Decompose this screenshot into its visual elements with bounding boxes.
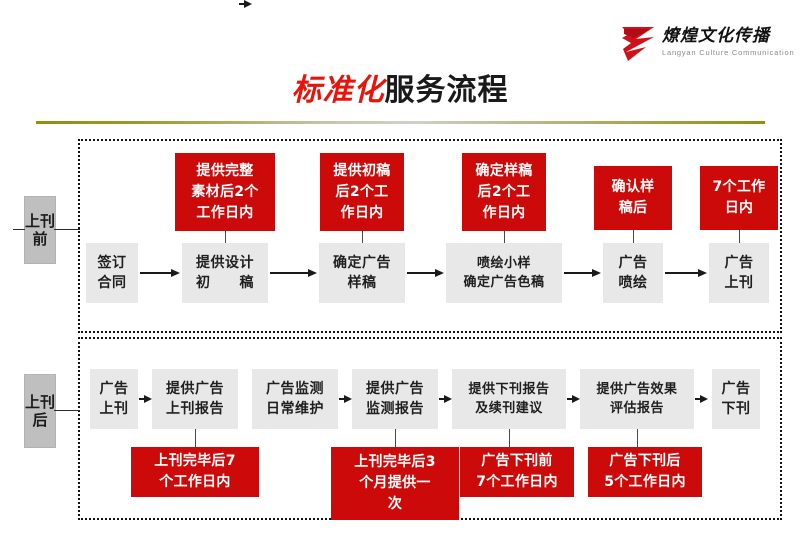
post-stub-4 xyxy=(509,429,510,447)
pre-step-0-line2: 合同 xyxy=(98,275,127,291)
stage-label-pre-publish-text: 上刊前 xyxy=(25,212,55,248)
post-step-5-line1: 提供广告效果 xyxy=(596,382,677,397)
pre-note-1-line1: 提供完整 xyxy=(196,163,253,179)
post-step-0-line2: 上刊 xyxy=(100,401,129,417)
post-step-3-line2: 监测报告 xyxy=(366,401,424,417)
post-step-3-line1: 提供广告 xyxy=(366,381,424,397)
pre-step-2-line1: 确定广告 xyxy=(333,255,391,271)
pre-note-4-line1: 确认样 xyxy=(612,179,655,195)
post-stub-1 xyxy=(195,429,196,447)
post-step-1-line2: 上刊报告 xyxy=(166,401,224,417)
pre-step-2[interactable]: 确定广告样稿 xyxy=(319,243,405,303)
pre-step-5-line2: 上刊 xyxy=(725,275,754,291)
pre-step-1[interactable]: 提供设计初 稿 xyxy=(182,243,268,303)
post-note-1-line1: 上刊完毕后7 xyxy=(154,453,236,469)
pre-arrow-1 xyxy=(270,269,317,277)
logo-wordmark: 燎煌文化传播 Langyan Culture Communication xyxy=(662,27,794,58)
pre-note-2-line1: 提供初稿 xyxy=(333,163,390,179)
pre-step-4[interactable]: 广告喷绘 xyxy=(603,243,663,303)
page-title-highlight: 标准化 xyxy=(292,73,385,108)
pre-step-3-line2: 确定广告色稿 xyxy=(463,275,544,290)
title-divider xyxy=(36,121,765,124)
pre-note-3: 确定样稿后2个工作日内 xyxy=(462,153,546,231)
post-step-4-line1: 提供下刊报告 xyxy=(468,382,549,397)
pre-note-5: 7个工作日内 xyxy=(700,166,778,230)
pre-step-1-line2: 初 稿 xyxy=(196,275,254,291)
post-step-2[interactable]: 广告监测日常维护 xyxy=(252,369,338,429)
pre-step-4-line2: 喷绘 xyxy=(619,275,648,291)
post-stub-5 xyxy=(637,429,638,447)
post-step-3[interactable]: 提供广告监测报告 xyxy=(352,369,438,429)
post-step-4[interactable]: 提供下刊报告及续刊建议 xyxy=(452,369,566,429)
post-note-5: 广告下刊后5个工作日内 xyxy=(588,447,702,497)
post-step-6[interactable]: 广告下刊 xyxy=(712,369,760,429)
post-step-1-line1: 提供广告 xyxy=(166,381,224,397)
post-note-3-line1: 上刊完毕后3 xyxy=(354,454,436,470)
pre-note-1: 提供完整素材后2个工作日内 xyxy=(175,153,275,231)
post-step-2-line2: 日常维护 xyxy=(266,401,324,417)
pre-note-4: 确认样稿后 xyxy=(594,166,672,230)
post-arrow-4 xyxy=(567,395,580,403)
post-step-1[interactable]: 提供广告上刊报告 xyxy=(152,369,238,429)
stage-label-post-publish: 上刊后 xyxy=(24,374,56,448)
pre-stub-5 xyxy=(739,230,740,243)
stage-label-pre-publish: 上刊前 xyxy=(24,196,56,264)
post-note-4: 广告下刊前7个工作日内 xyxy=(460,447,574,497)
pre-arrow-4 xyxy=(665,269,707,277)
pre-stub-1 xyxy=(225,231,226,243)
page-title-rest: 服务流程 xyxy=(385,73,509,108)
stage-connector-post xyxy=(54,410,80,411)
post-note-3-line2: 个月提供一 xyxy=(359,475,431,491)
post-step-4-line2: 及续刊建议 xyxy=(475,401,543,416)
pre-step-0[interactable]: 签订合同 xyxy=(86,243,138,303)
pre-stub-2 xyxy=(362,231,363,243)
pre-step-3-line1: 喷绘小样 xyxy=(477,256,531,271)
pre-note-2-line2: 后2个工 xyxy=(336,184,389,200)
pre-note-5-line1: 7个工作 xyxy=(713,179,766,195)
stage-label-post-publish-text: 上刊后 xyxy=(25,393,55,429)
post-note-5-line1: 广告下刊后 xyxy=(609,453,681,469)
stage-stub-pre xyxy=(13,229,25,230)
post-note-1-line2: 个工作日内 xyxy=(159,474,231,490)
post-note-1: 上刊完毕后7个工作日内 xyxy=(131,447,259,497)
pre-step-1-line1: 提供设计 xyxy=(196,255,254,271)
post-arrow-5 xyxy=(695,395,708,403)
pre-arrow-3 xyxy=(564,269,601,277)
pre-stub-4 xyxy=(633,230,634,243)
post-arrow-3 xyxy=(439,395,452,403)
pre-stub-3 xyxy=(504,231,505,243)
post-arrow-0 xyxy=(139,395,152,403)
pre-step-0-line1: 签订 xyxy=(98,255,127,271)
post-arrow-2 xyxy=(339,395,352,403)
post-step-0-line1: 广告 xyxy=(100,381,129,397)
company-logo: 燎煌文化传播 Langyan Culture Communication xyxy=(620,16,788,68)
pre-note-2: 提供初稿后2个工作日内 xyxy=(320,153,404,231)
logo-name-cn: 燎煌文化传播 xyxy=(662,27,794,46)
pre-note-1-line2: 素材后2个 xyxy=(191,184,258,200)
pre-step-5[interactable]: 广告上刊 xyxy=(709,243,769,303)
post-step-0[interactable]: 广告上刊 xyxy=(90,369,138,429)
post-stub-3 xyxy=(395,429,396,447)
post-step-5[interactable]: 提供广告效果评估报告 xyxy=(580,369,694,429)
pre-arrow-0 xyxy=(140,269,180,277)
post-step-5-line2: 评估报告 xyxy=(610,401,664,416)
post-note-4-line1: 广告下刊前 xyxy=(481,453,553,469)
logo-name-en: Langyan Culture Communication xyxy=(662,48,794,57)
post-note-4-line2: 7个工作日内 xyxy=(476,474,558,490)
pre-step-2-line2: 样稿 xyxy=(348,275,377,291)
post-step-6-line2: 下刊 xyxy=(722,401,751,417)
pre-step-3[interactable]: 喷绘小样确定广告色稿 xyxy=(446,243,562,303)
stage-connector-pre xyxy=(54,229,80,230)
page-title: 标准化服务流程 xyxy=(0,72,800,110)
pre-arrow-2 xyxy=(407,269,444,277)
post-step-2-line1: 广告监测 xyxy=(266,381,324,397)
post-note-3: 上刊完毕后3个月提供一次 xyxy=(331,447,459,520)
pre-step-4-line1: 广告 xyxy=(619,255,648,271)
pre-step-5-line1: 广告 xyxy=(725,255,754,271)
post-arrow-1 xyxy=(239,0,252,8)
pre-note-2-line3: 作日内 xyxy=(341,205,384,221)
pre-note-4-line2: 稿后 xyxy=(619,200,648,216)
post-note-5-line2: 5个工作日内 xyxy=(604,474,686,490)
pre-note-5-line2: 日内 xyxy=(725,200,754,216)
post-note-3-line3: 次 xyxy=(388,496,402,512)
pre-note-3-line3: 作日内 xyxy=(483,205,526,221)
pre-note-3-line1: 确定样稿 xyxy=(475,163,532,179)
post-step-6-line1: 广告 xyxy=(722,381,751,397)
pre-note-1-line3: 工作日内 xyxy=(196,205,253,221)
red-arrow-logo-icon xyxy=(620,21,656,63)
pre-note-3-line2: 后2个工 xyxy=(478,184,531,200)
